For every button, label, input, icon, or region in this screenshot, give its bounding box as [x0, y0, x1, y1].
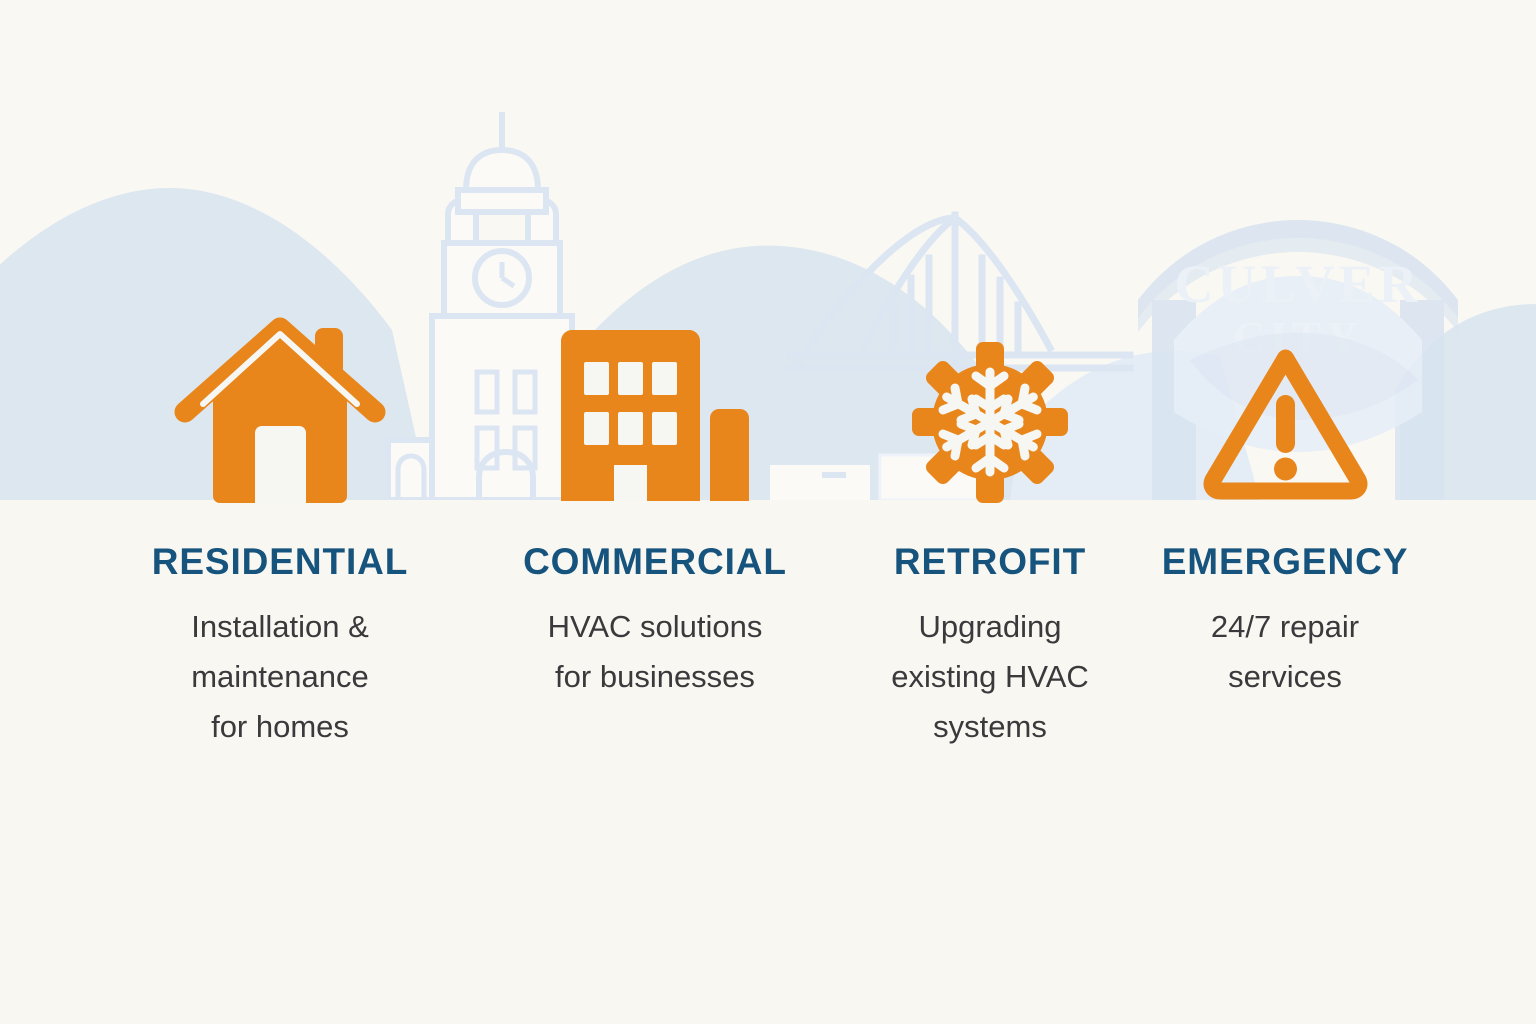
service-column-commercial: COMMERCIAL HVAC solutions for businesses: [480, 280, 830, 702]
icon-slot: [1140, 280, 1430, 505]
column-description: 24/7 repair services: [1140, 602, 1430, 702]
icon-slot: [480, 280, 830, 505]
service-column-retrofit: RETROFIT Upgrading existing HVAC systems: [845, 280, 1135, 753]
column-title: EMERGENCY: [1140, 543, 1430, 580]
column-description: HVAC solutions for businesses: [480, 602, 830, 702]
office-building-icon: [555, 315, 755, 505]
column-title: RETROFIT: [845, 543, 1135, 580]
service-columns: RESIDENTIAL Installation & maintenance f…: [0, 0, 1536, 1024]
infographic-canvas: CULVER CITY: [0, 0, 1536, 1024]
gear-snowflake-icon: [910, 340, 1070, 505]
icon-slot: [105, 280, 455, 505]
icon-slot: [845, 280, 1135, 505]
warning-triangle-icon: [1198, 340, 1373, 505]
service-column-residential: RESIDENTIAL Installation & maintenance f…: [105, 280, 455, 753]
column-description: Installation & maintenance for homes: [105, 602, 455, 753]
service-column-emergency: EMERGENCY 24/7 repair services: [1140, 280, 1430, 702]
column-title: RESIDENTIAL: [105, 543, 455, 580]
column-title: COMMERCIAL: [480, 543, 830, 580]
snowflake-glyph: [943, 372, 1037, 472]
column-description: Upgrading existing HVAC systems: [845, 602, 1135, 753]
house-icon: [173, 300, 388, 505]
